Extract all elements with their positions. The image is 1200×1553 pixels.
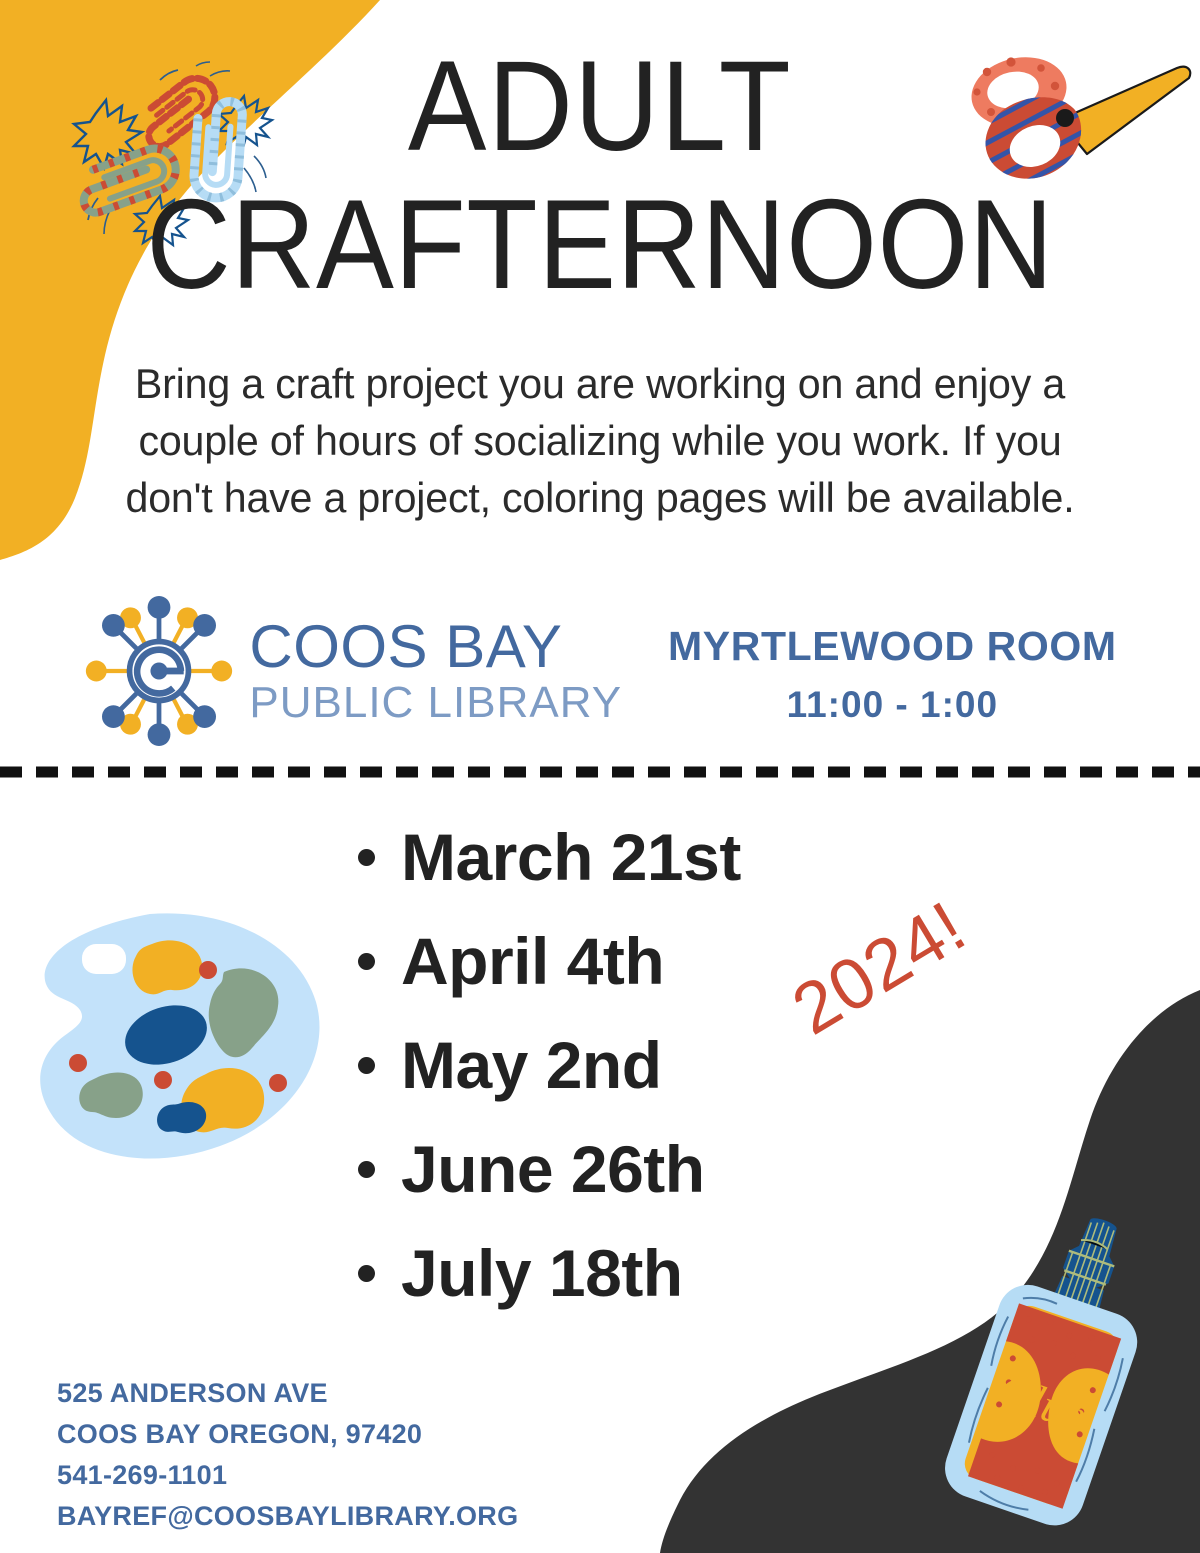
dashed-divider	[0, 766, 1200, 778]
event-dates-list: March 21st April 4th May 2nd June 26th J…	[358, 824, 878, 1344]
contact-phone: 541-269-1101	[57, 1455, 518, 1496]
logo-name-line-1: COOS BAY	[249, 617, 622, 677]
list-item: March 21st	[358, 824, 878, 890]
contact-email: BAYREF@COOSBAYLIBRARY.ORG	[57, 1496, 518, 1537]
title-line-1: ADULT	[48, 38, 1152, 176]
bullet-icon	[358, 1265, 375, 1282]
coos-bay-library-logo-icon	[83, 595, 235, 747]
date-label: March 21st	[401, 824, 741, 890]
svg-text:Glue: Glue	[991, 1364, 1092, 1441]
logo-name-line-2: PUBLIC LIBRARY	[249, 681, 622, 725]
list-item: June 26th	[358, 1136, 878, 1202]
date-label: July 18th	[401, 1240, 683, 1306]
bullet-icon	[358, 1057, 375, 1074]
room-name: MYRTLEWOOD ROOM	[668, 623, 1117, 670]
location-block: MYRTLEWOOD ROOM 11:00 - 1:00	[668, 623, 1117, 726]
date-label: May 2nd	[401, 1032, 662, 1098]
list-item: May 2nd	[358, 1032, 878, 1098]
bullet-icon	[358, 849, 375, 866]
event-time: 11:00 - 1:00	[668, 684, 1117, 726]
contact-city-state-zip: COOS BAY OREGON, 97420	[57, 1414, 518, 1455]
bullet-icon	[358, 953, 375, 970]
list-item: July 18th	[358, 1240, 878, 1306]
logo-and-location-row: COOS BAY PUBLIC LIBRARY MYRTLEWOOD ROOM …	[0, 595, 1200, 747]
library-logo: COOS BAY PUBLIC LIBRARY	[83, 595, 622, 747]
paint-palette-icon	[30, 908, 330, 1168]
title-line-2: CRAFTERNOON	[48, 176, 1152, 313]
event-description: Bring a craft project you are working on…	[110, 355, 1090, 526]
page-title: ADULT CRAFTERNOON	[48, 38, 1152, 313]
bullet-icon	[358, 1161, 375, 1178]
logo-wordmark: COOS BAY PUBLIC LIBRARY	[249, 617, 622, 725]
contact-street: 525 ANDERSON AVE	[57, 1373, 518, 1414]
date-label: April 4th	[401, 928, 664, 994]
glue-bottle-icon: Glue	[920, 1215, 1200, 1545]
contact-info: 525 ANDERSON AVE COOS BAY OREGON, 97420 …	[57, 1373, 518, 1537]
date-label: June 26th	[401, 1136, 705, 1202]
